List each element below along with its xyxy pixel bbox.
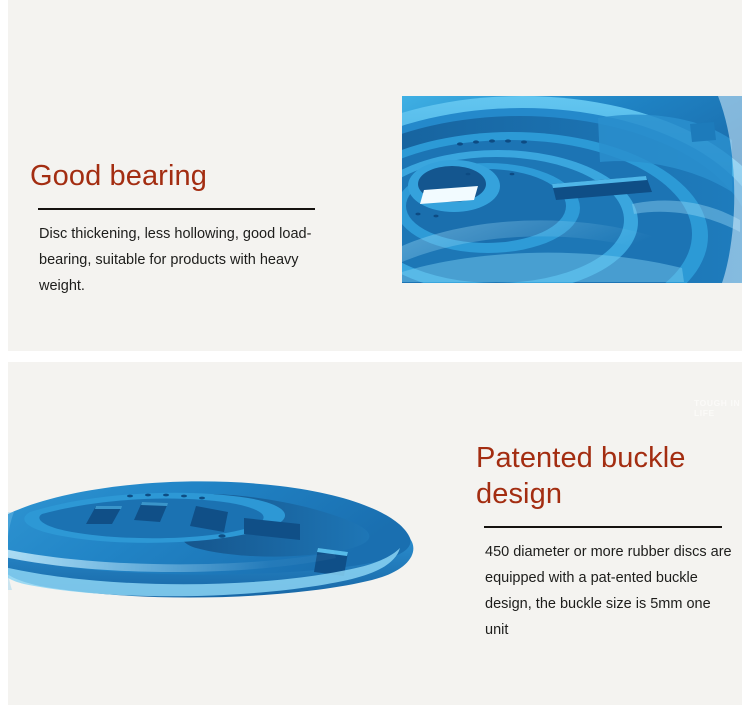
title-divider [484, 526, 722, 528]
feature-panel-patented-buckle-design: Patented buckle design 450 diameter or m… [8, 362, 742, 705]
panel-title: Good bearing [30, 158, 320, 194]
panel-body-text: 450 diameter or more rubber discs are eq… [485, 539, 733, 643]
panel-body-text: Disc thickening, less hollowing, good lo… [39, 221, 314, 299]
product-photo-disc-edge-view [8, 462, 420, 642]
product-feature-page: Good bearing Disc thickening, less hollo… [0, 0, 750, 718]
title-divider [38, 208, 315, 210]
brand-watermark: TOUGH IN LIFE [694, 398, 750, 418]
feature-panel-good-bearing: Good bearing Disc thickening, less hollo… [8, 0, 742, 351]
feature-text-block: Good bearing Disc thickening, less hollo… [30, 158, 320, 299]
feature-text-block: Patented buckle design 450 diameter or m… [476, 440, 726, 643]
panel-title: Patented buckle design [476, 440, 726, 512]
product-photo-disc-closeup [402, 96, 742, 283]
